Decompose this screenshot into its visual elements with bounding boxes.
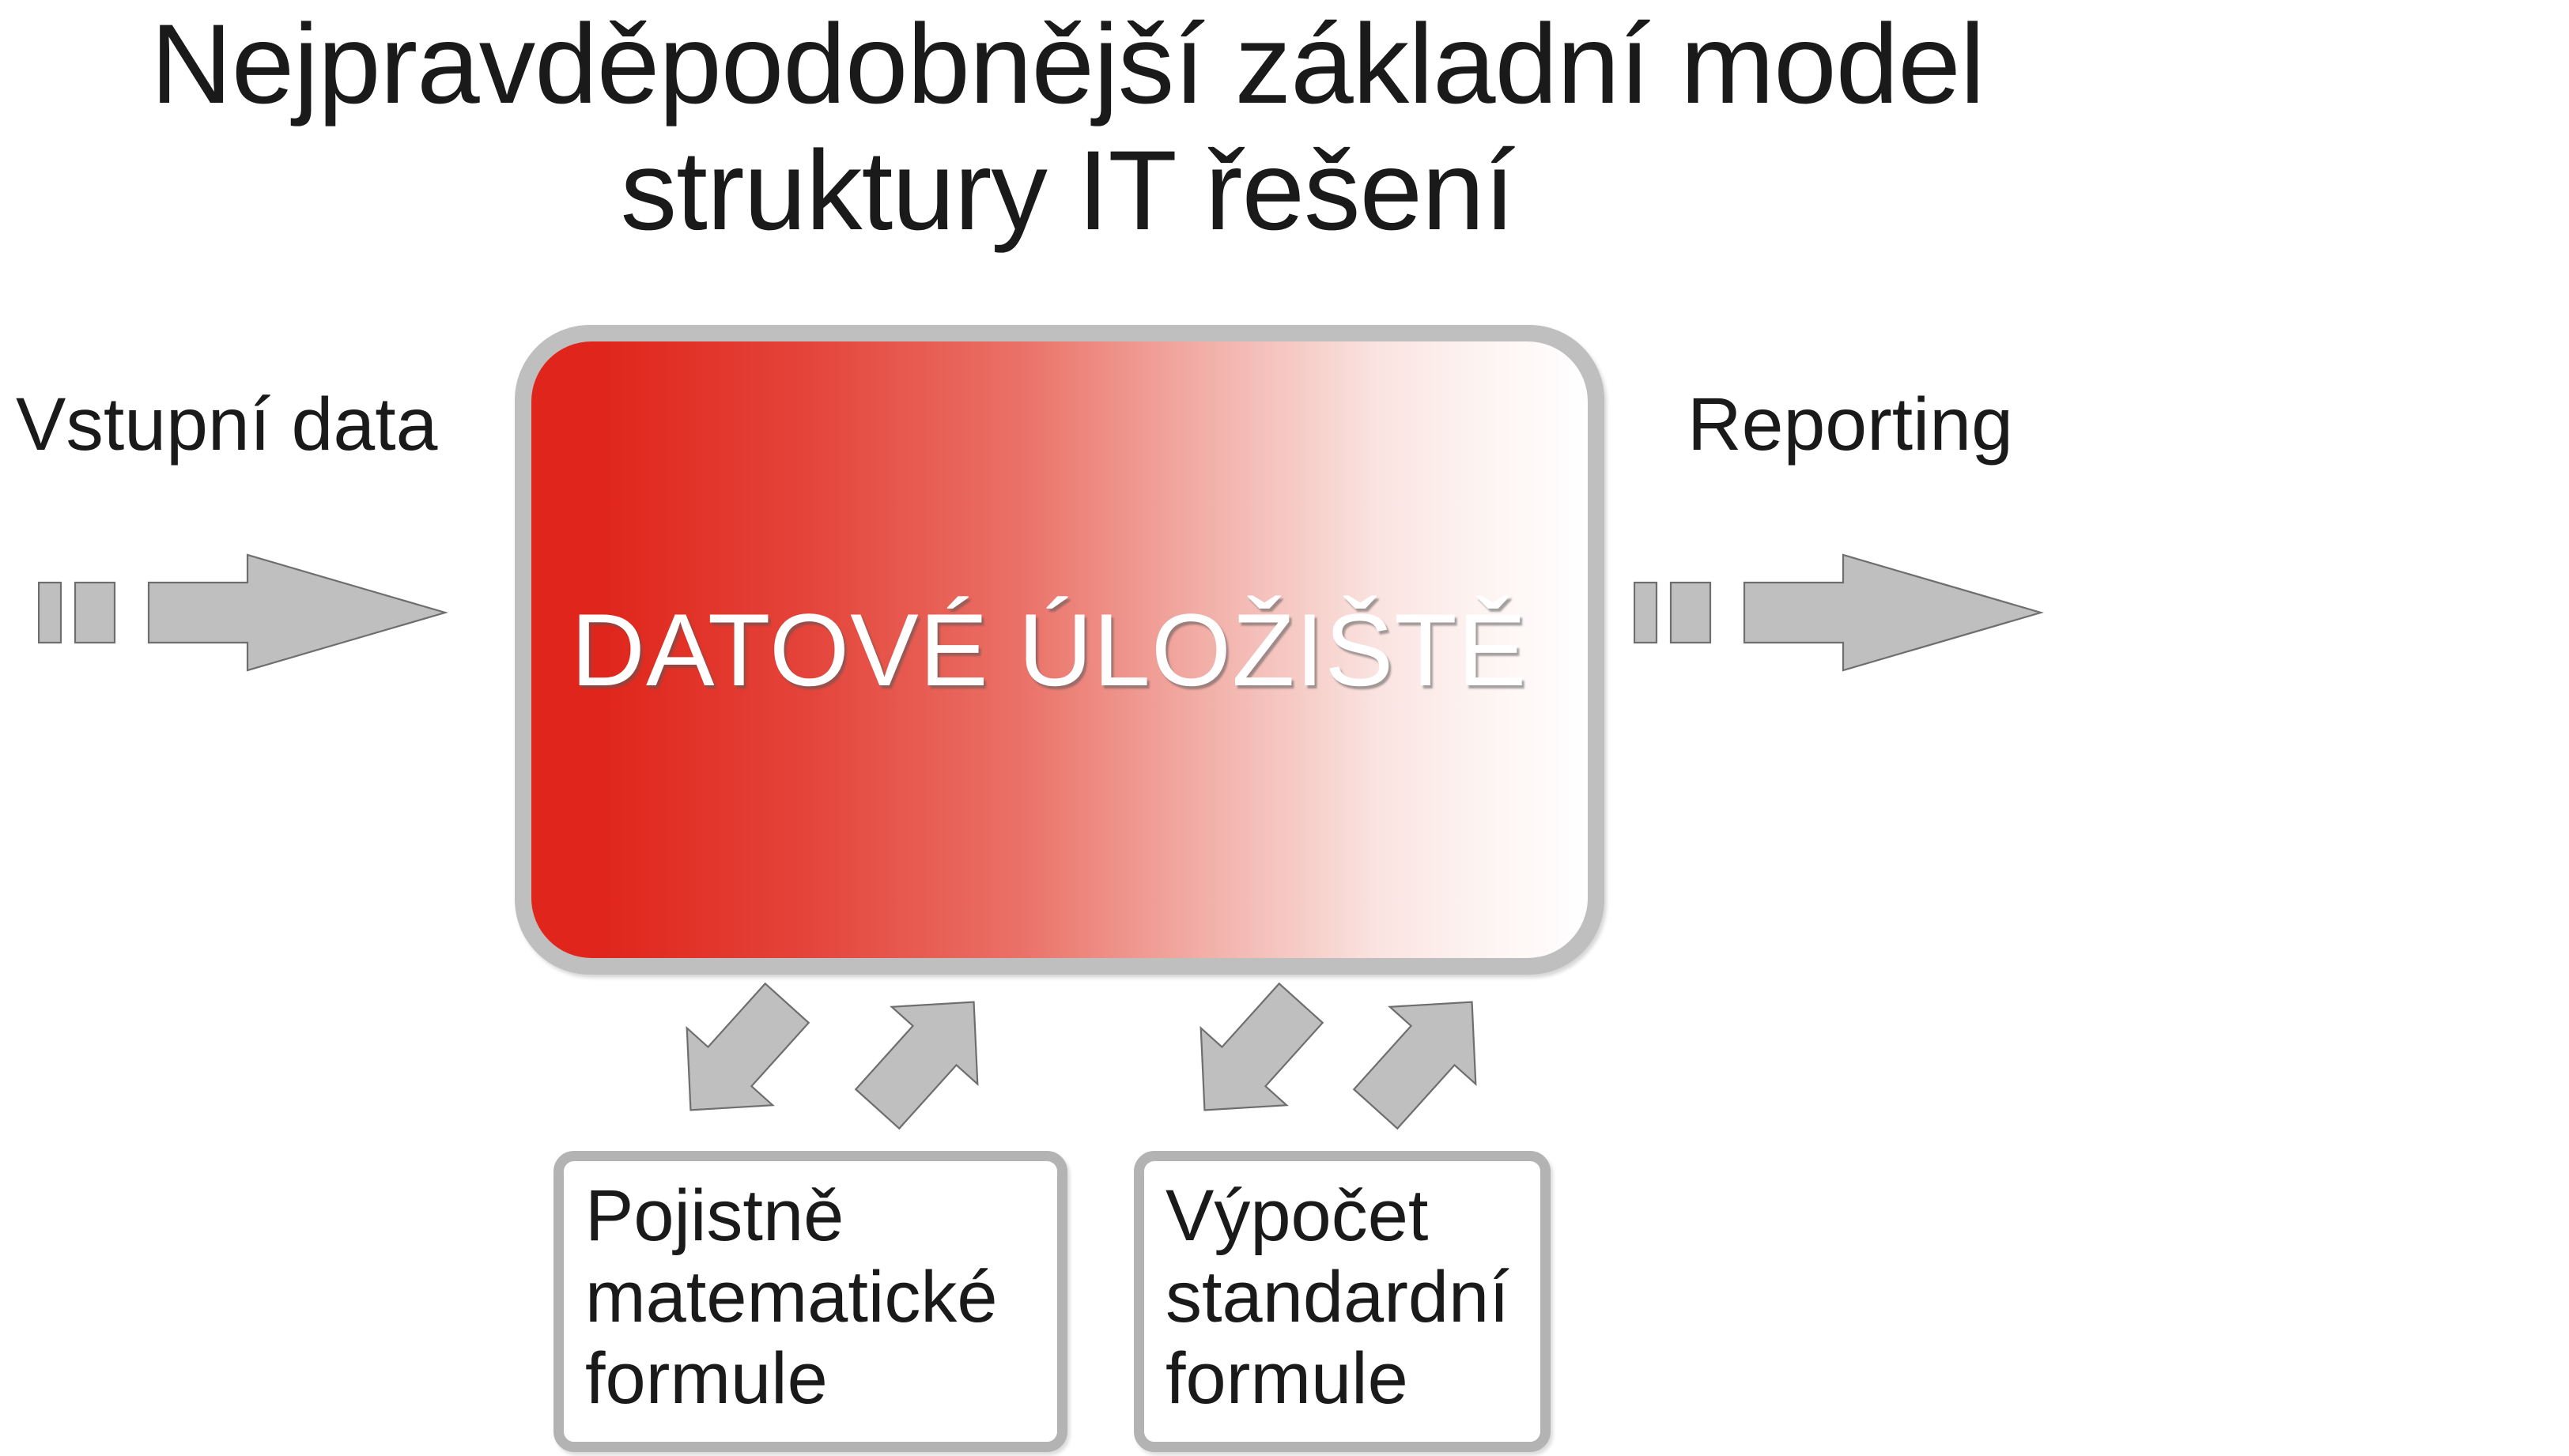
page-title: Nejpravděpodobnější základní model struk… xyxy=(0,2,2135,255)
arrow-actuarial-to-datastore-icon xyxy=(850,977,1000,1139)
datastore-label: DATOVÉ ÚLOŽIŠTĚ xyxy=(571,590,1527,709)
input-data-label: Vstupní data xyxy=(16,387,437,462)
datastore-box[interactable]: DATOVÉ ÚLOŽIŠTĚ xyxy=(515,325,1604,975)
input-striped-arrow-icon xyxy=(38,553,481,676)
standard-formulas-label: Výpočet standardní formule xyxy=(1165,1175,1536,1420)
actuarial-formulas-label: Pojistně matematické formule xyxy=(585,1175,1052,1420)
output-striped-arrow-icon xyxy=(1634,553,2076,676)
arrow-datastore-to-actuarial-icon xyxy=(664,977,814,1139)
actuarial-formulas-box[interactable]: Pojistně matematické formule xyxy=(553,1151,1067,1452)
datastore-gradient-fill: DATOVÉ ÚLOŽIŠTĚ xyxy=(531,341,1588,958)
standard-formulas-box[interactable]: Výpočet standardní formule xyxy=(1134,1151,1551,1452)
diagram-canvas: Nejpravděpodobnější základní model struk… xyxy=(0,0,2569,1456)
arrow-datastore-to-standard-icon xyxy=(1178,977,1328,1139)
arrow-standard-to-datastore-icon xyxy=(1348,977,1498,1139)
reporting-label: Reporting xyxy=(1687,387,2013,462)
